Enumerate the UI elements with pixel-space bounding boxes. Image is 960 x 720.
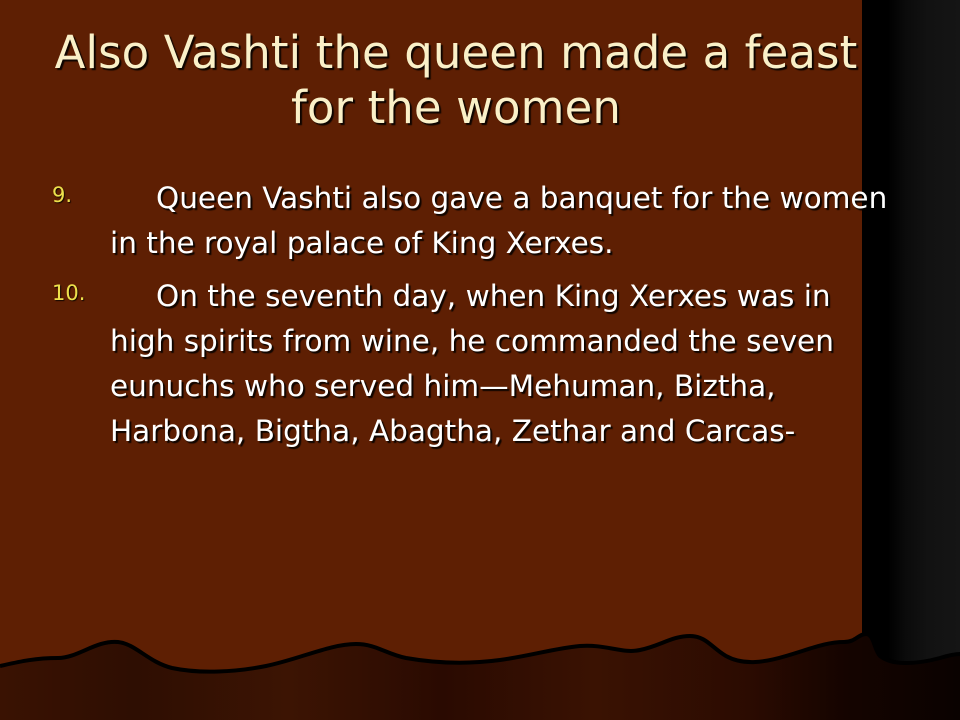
list-item: 10. On the seventh day, when King Xerxes… <box>44 274 892 454</box>
curtain-hem-decoration <box>0 600 960 720</box>
list-item-text: On the seventh day, when King Xerxes was… <box>110 274 892 454</box>
list-marker: 10. <box>52 281 85 305</box>
presentation-slide: Also Vashti the queen made a feast for t… <box>0 0 960 720</box>
slide-title: Also Vashti the queen made a feast for t… <box>36 26 876 136</box>
slide-body-list: 9. Queen Vashti also gave a banquet for … <box>44 176 892 462</box>
list-item-text: Queen Vashti also gave a banquet for the… <box>110 176 892 266</box>
list-item: 9. Queen Vashti also gave a banquet for … <box>44 176 892 266</box>
list-marker: 9. <box>52 183 72 207</box>
